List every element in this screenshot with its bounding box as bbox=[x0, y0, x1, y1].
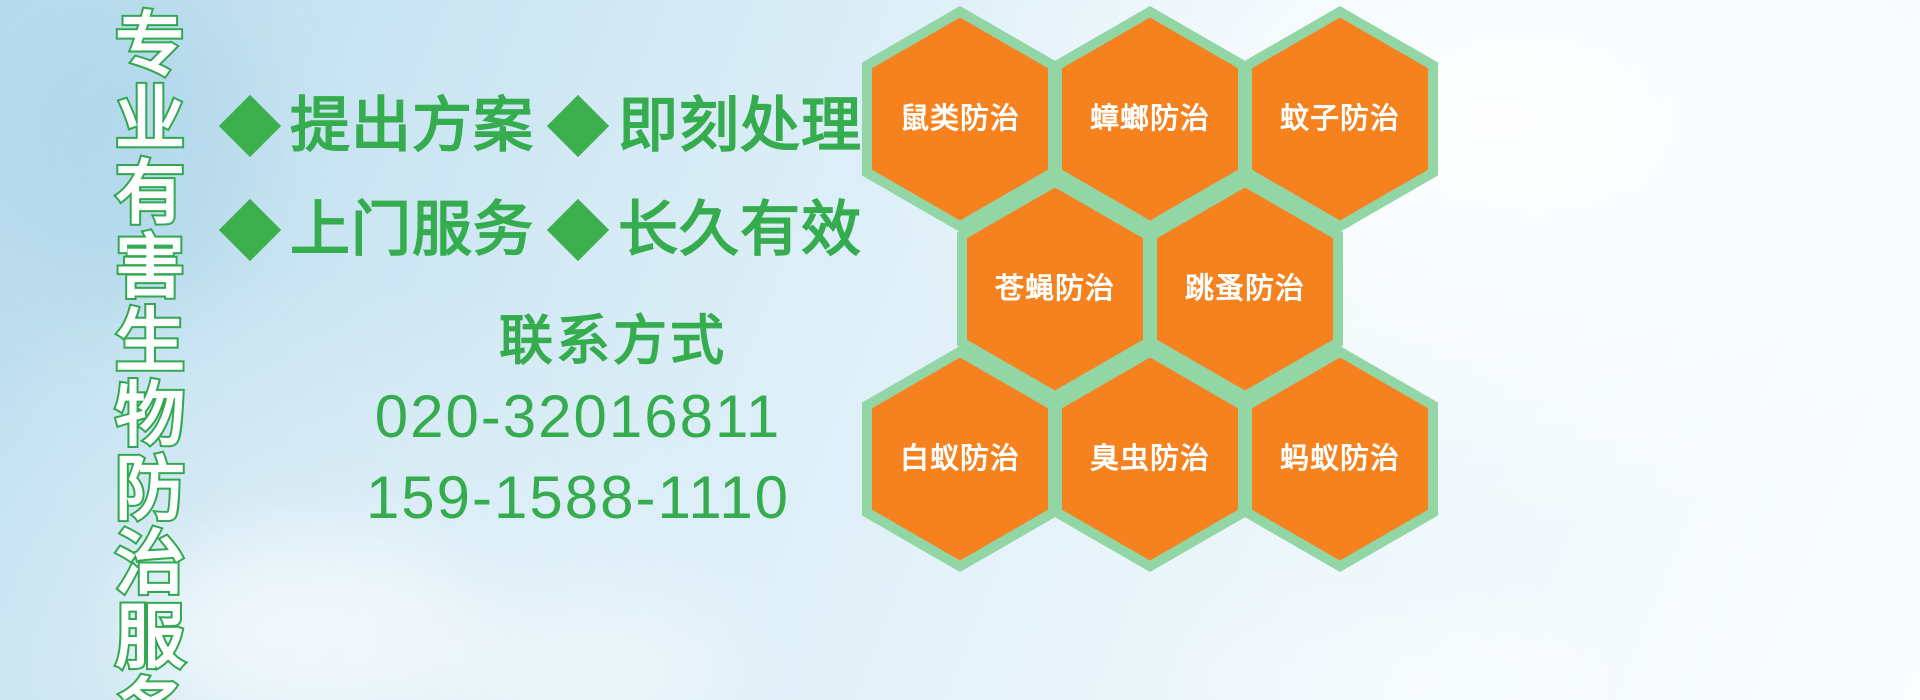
service-label: 鼠类防治 bbox=[900, 105, 1020, 134]
hex-inner: 跳蚤防治 bbox=[1157, 188, 1333, 391]
hex-inner: 臭虫防治 bbox=[1062, 358, 1238, 561]
service-label: 白蚁防治 bbox=[900, 445, 1020, 474]
headline-char-6: 物 bbox=[115, 378, 185, 452]
background-haze-bottom-center bbox=[430, 600, 730, 700]
feature-item-onsite-service: 上门服务 bbox=[228, 200, 534, 260]
service-label: 蚊子防治 bbox=[1280, 105, 1400, 134]
promotional-banner: 专 业 有 害 生 物 防 治 服 务 提出方案 即刻处理 上门服务 bbox=[0, 0, 1920, 700]
service-label: 臭虫防治 bbox=[1090, 445, 1210, 474]
diamond-bullet-icon bbox=[219, 199, 281, 261]
headline-char-8: 治 bbox=[115, 526, 185, 600]
headline-char-9: 服 bbox=[115, 600, 185, 674]
vertical-headline: 专 业 有 害 生 物 防 治 服 务 bbox=[104, 8, 196, 692]
headline-char-2: 业 bbox=[115, 82, 185, 156]
feature-item-immediate-handling: 即刻处理 bbox=[556, 96, 862, 156]
phone-mobile[interactable]: 159-1588-1110 bbox=[228, 457, 868, 538]
service-honeycomb: 鼠类防治 蟑螂防治 蚊子防治 苍蝇防治 跳蚤防治 白蚁防治 bbox=[858, 0, 1478, 700]
headline-char-1: 专 bbox=[115, 8, 185, 82]
headline-char-10: 务 bbox=[115, 674, 185, 700]
hex-inner: 白蚁防治 bbox=[872, 358, 1048, 561]
headline-char-5: 生 bbox=[115, 304, 185, 378]
feature-item-long-lasting: 长久有效 bbox=[556, 200, 862, 260]
diamond-bullet-icon bbox=[547, 95, 609, 157]
feature-row-1: 提出方案 即刻处理 bbox=[228, 74, 868, 178]
hex-inner: 蟑螂防治 bbox=[1062, 18, 1238, 221]
feature-label: 提出方案 bbox=[290, 96, 534, 156]
service-label: 跳蚤防治 bbox=[1185, 275, 1305, 304]
diamond-bullet-icon bbox=[547, 199, 609, 261]
diamond-bullet-icon bbox=[219, 95, 281, 157]
hex-inner: 苍蝇防治 bbox=[967, 188, 1143, 391]
feature-label: 上门服务 bbox=[290, 200, 534, 260]
service-label: 蚂蚁防治 bbox=[1280, 445, 1400, 474]
hex-inner: 蚂蚁防治 bbox=[1252, 358, 1428, 561]
headline-char-3: 有 bbox=[115, 156, 185, 230]
contact-block: 联系方式 020-32016811 159-1588-1110 bbox=[228, 308, 868, 538]
feature-list: 提出方案 即刻处理 上门服务 长久有效 bbox=[228, 74, 868, 282]
headline-char-4: 害 bbox=[115, 230, 185, 304]
contact-label: 联系方式 bbox=[228, 308, 868, 376]
feature-item-propose-plan: 提出方案 bbox=[228, 96, 534, 156]
feature-label: 即刻处理 bbox=[618, 96, 862, 156]
hex-inner: 蚊子防治 bbox=[1252, 18, 1428, 221]
service-label: 苍蝇防治 bbox=[995, 275, 1115, 304]
phone-landline[interactable]: 020-32016811 bbox=[228, 376, 868, 457]
hex-inner: 鼠类防治 bbox=[872, 18, 1048, 221]
feature-label: 长久有效 bbox=[618, 200, 862, 260]
feature-row-2: 上门服务 长久有效 bbox=[228, 178, 868, 282]
service-label: 蟑螂防治 bbox=[1090, 105, 1210, 134]
headline-char-7: 防 bbox=[115, 452, 185, 526]
